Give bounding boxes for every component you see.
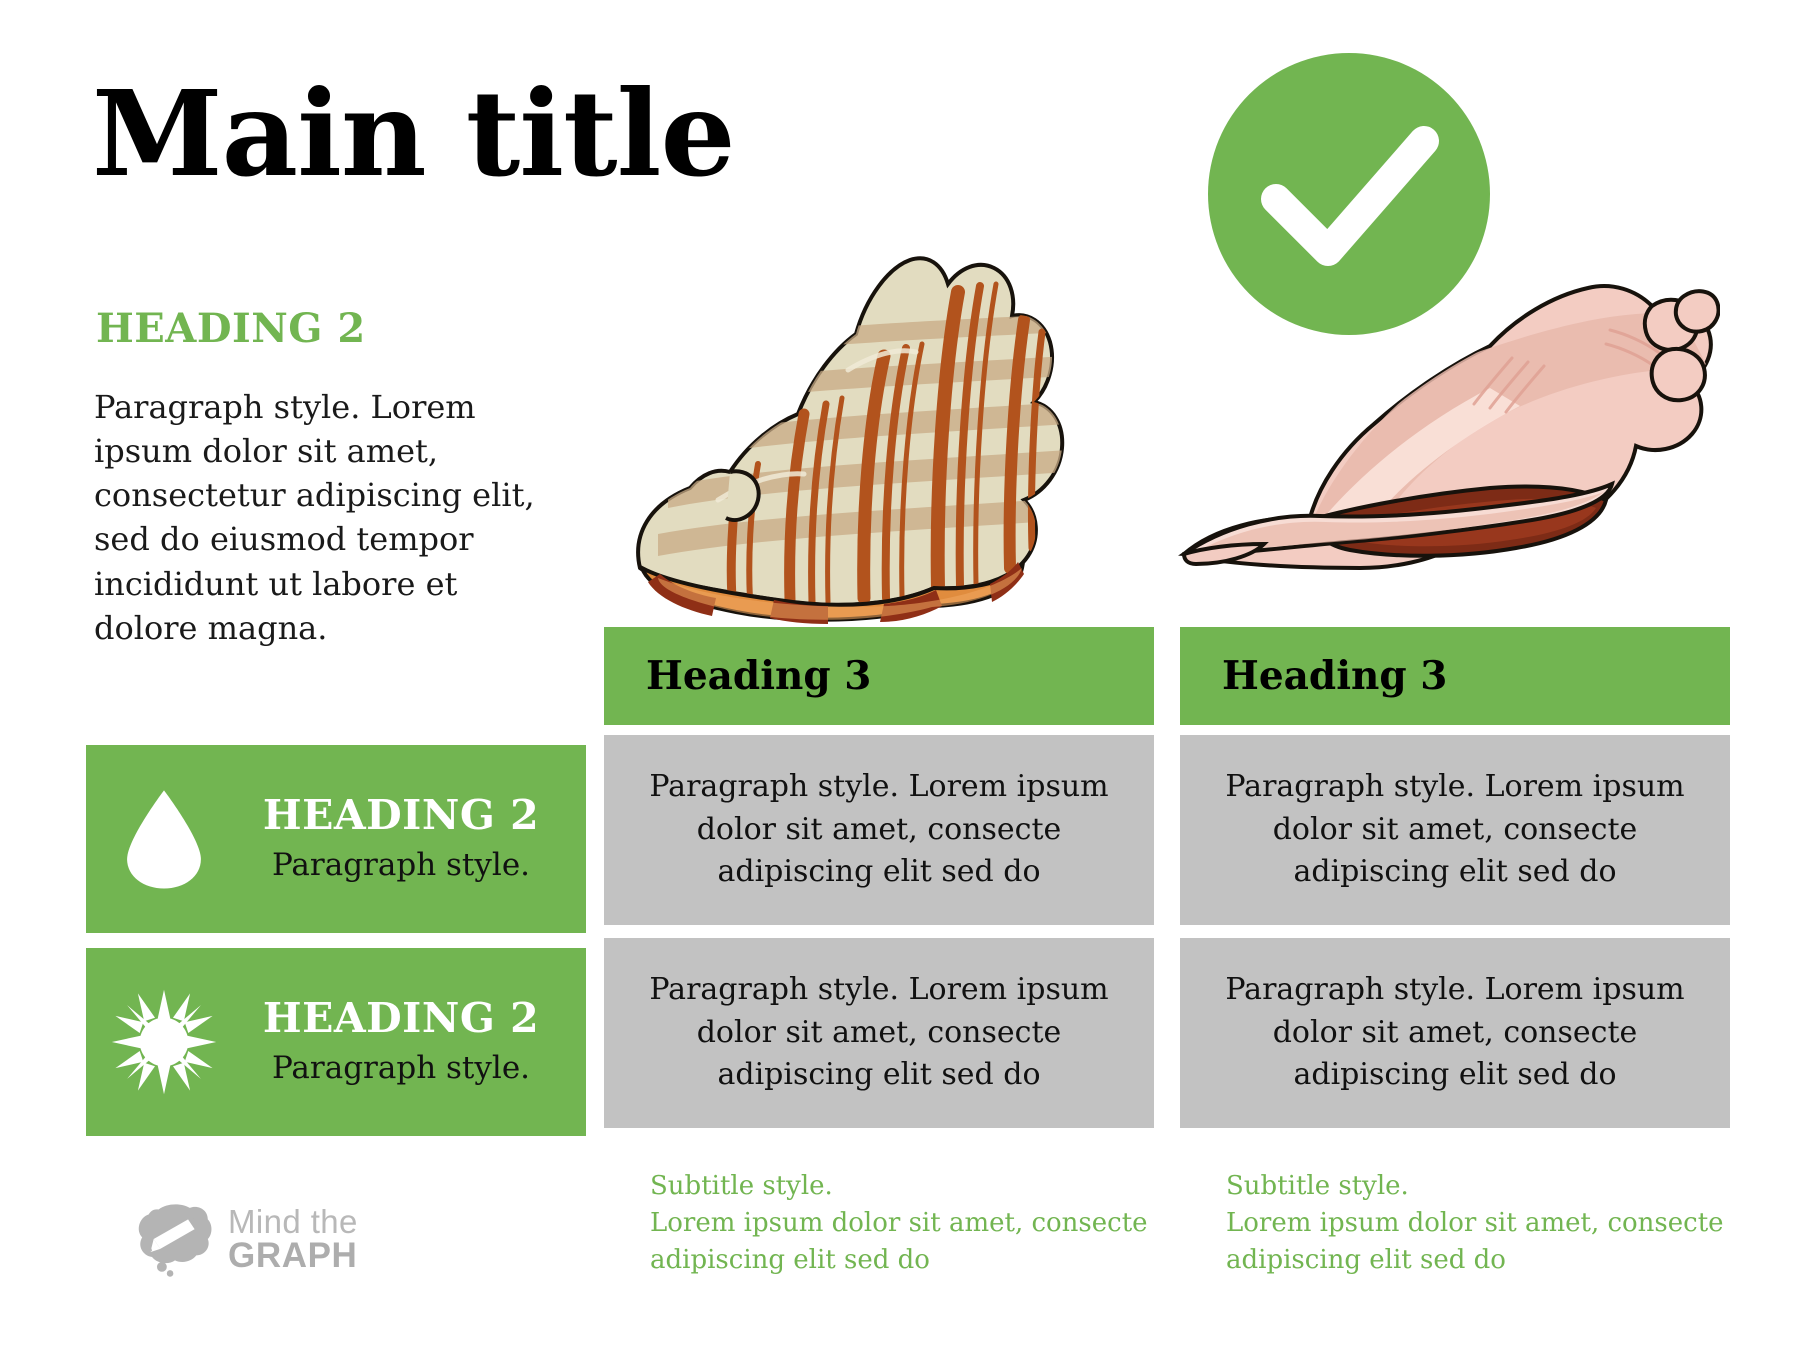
sun-icon bbox=[108, 980, 220, 1104]
page-title: Main title bbox=[92, 72, 735, 196]
cell-text: Paragraph style. Lorem ipsum dolor sit a… bbox=[1216, 766, 1694, 895]
feature-text-sun: HEADING 2 Paragraph style. bbox=[220, 995, 586, 1088]
subtitle-label: Subtitle style. bbox=[1226, 1168, 1766, 1205]
column-a-cell-2: Paragraph style. Lorem ipsum dolor sit a… bbox=[604, 938, 1154, 1128]
subtitle-body: Lorem ipsum dolor sit amet, consecte adi… bbox=[1226, 1205, 1766, 1279]
subtitle-label: Subtitle style. bbox=[650, 1168, 1190, 1205]
section-heading-2: HEADING 2 bbox=[96, 305, 366, 352]
column-b-heading-text: Heading 3 bbox=[1222, 653, 1447, 699]
subtitle-body: Lorem ipsum dolor sit amet, consecte adi… bbox=[650, 1205, 1190, 1279]
column-b-subtitle: Subtitle style. Lorem ipsum dolor sit am… bbox=[1226, 1168, 1766, 1279]
check-circle-icon bbox=[1208, 53, 1490, 335]
feature-text-water: HEADING 2 Paragraph style. bbox=[220, 792, 586, 885]
water-drop-icon bbox=[108, 777, 220, 901]
feature-subtitle: Paragraph style. bbox=[226, 845, 576, 885]
logo-line-2: GRAPH bbox=[228, 1238, 358, 1273]
cell-text: Paragraph style. Lorem ipsum dolor sit a… bbox=[1216, 969, 1694, 1098]
feature-block-sun[interactable]: HEADING 2 Paragraph style. bbox=[86, 948, 586, 1136]
brain-pencil-icon bbox=[134, 1198, 216, 1280]
column-b-cell-1: Paragraph style. Lorem ipsum dolor sit a… bbox=[1180, 735, 1730, 925]
feature-title: HEADING 2 bbox=[226, 792, 576, 839]
infographic-canvas: Main title HEADING 2 Paragraph style. Lo… bbox=[0, 0, 1800, 1350]
brand-logo[interactable]: Mind the GRAPH bbox=[134, 1198, 358, 1280]
logo-line-1: Mind the bbox=[228, 1205, 358, 1238]
conch-shell-striped-illustration bbox=[598, 238, 1118, 658]
feature-title: HEADING 2 bbox=[226, 995, 576, 1042]
cell-text: Paragraph style. Lorem ipsum dolor sit a… bbox=[640, 766, 1118, 895]
column-a-subtitle: Subtitle style. Lorem ipsum dolor sit am… bbox=[650, 1168, 1190, 1279]
column-b-cell-2: Paragraph style. Lorem ipsum dolor sit a… bbox=[1180, 938, 1730, 1128]
column-a-heading-text: Heading 3 bbox=[646, 653, 871, 699]
cell-text: Paragraph style. Lorem ipsum dolor sit a… bbox=[640, 969, 1118, 1098]
feature-subtitle: Paragraph style. bbox=[226, 1048, 576, 1088]
intro-paragraph: Paragraph style. Lorem ipsum dolor sit a… bbox=[94, 385, 544, 650]
feature-block-water[interactable]: HEADING 2 Paragraph style. bbox=[86, 745, 586, 933]
logo-wordmark: Mind the GRAPH bbox=[228, 1205, 358, 1273]
column-a-cell-1: Paragraph style. Lorem ipsum dolor sit a… bbox=[604, 735, 1154, 925]
